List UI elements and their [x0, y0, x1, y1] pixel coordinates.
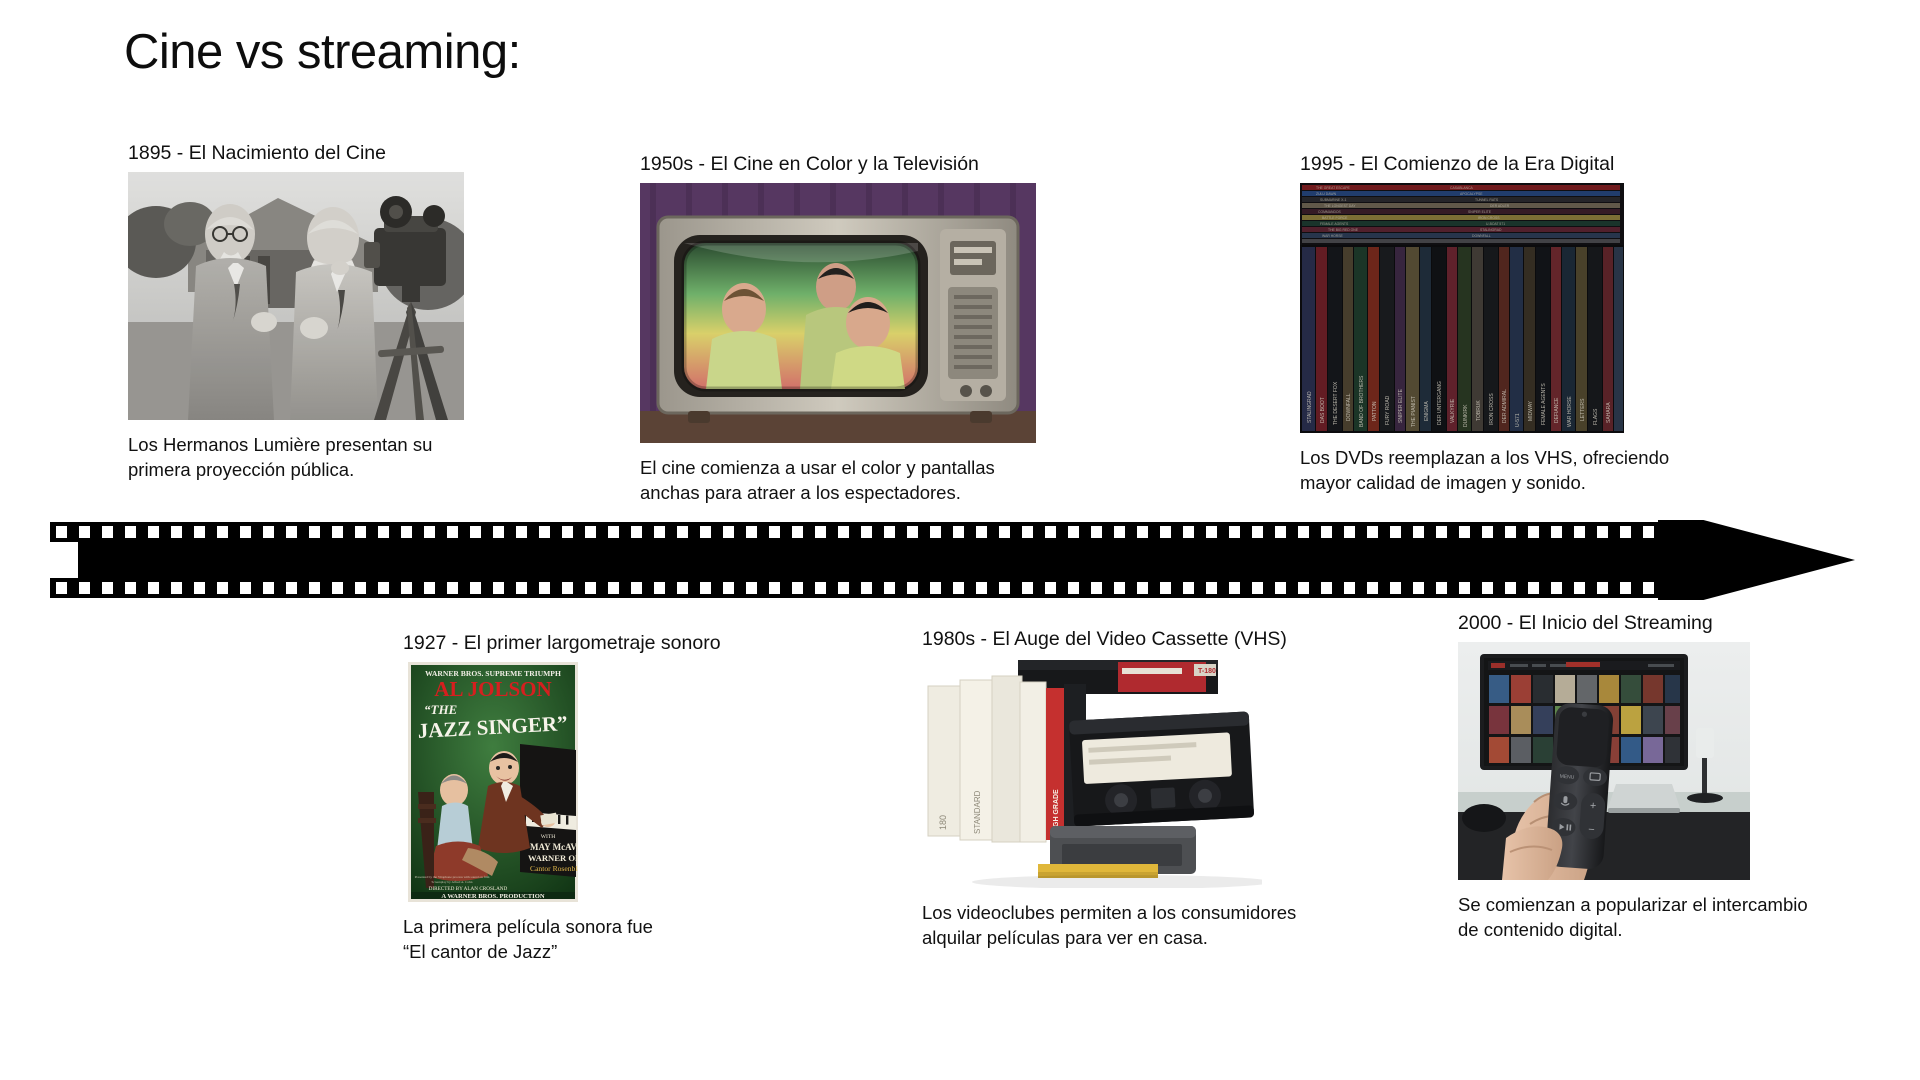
poster-director: DIRECTED BY ALAN CROSLAND	[429, 886, 508, 892]
timeline-entry-heading: 2000 - El Inicio del Streaming	[1458, 612, 1858, 635]
poster-star: AL JOLSON	[434, 677, 551, 701]
timeline-entry-2000: 2000 - El Inicio del Streaming	[1458, 612, 1858, 943]
svg-text:Cantor Rosenblatt: Cantor Rosenblatt	[530, 864, 578, 873]
svg-text:STANDARD: STANDARD	[973, 791, 982, 835]
vintage-color-television-photo	[640, 183, 1036, 443]
timeline-entry-heading: 1950s - El Cine en Color y la Televisión	[640, 153, 1040, 176]
svg-text:Presented by the Vitaphone pro: Presented by the Vitaphone process with …	[415, 875, 490, 879]
timeline-entry-1927: 1927 - El primer largometraje sonoro WAR…	[403, 632, 783, 965]
svg-text:+: +	[1589, 800, 1596, 812]
svg-text:MENU: MENU	[1559, 774, 1574, 781]
timeline-entry-heading: 1927 - El primer largometraje sonoro	[403, 632, 783, 655]
svg-text:−: −	[1588, 824, 1595, 836]
timeline-entry-heading: 1895 - El Nacimiento del Cine	[128, 142, 488, 165]
timeline-entry-caption: Se comienzan a popularizar el intercambi…	[1458, 893, 1858, 942]
streaming-remote-tv-photo: MENU + −	[1458, 642, 1750, 880]
poster-the: “THE	[424, 702, 458, 717]
timeline-entry-1980s: 1980s - El Auge del Video Cassette (VHS)…	[922, 628, 1322, 951]
timeline-entry-caption: Los videoclubes permiten a los consumido…	[922, 901, 1322, 950]
svg-text:Screenplay by Alfred A. Cohn: Screenplay by Alfred A. Cohn	[432, 880, 473, 884]
dvd-shelf-photo: THE GREAT ESCAPECASABLANCA ZULU DAWNAPOC…	[1300, 183, 1624, 433]
timeline-entry-caption: La primera película sonora fue “El canto…	[403, 915, 783, 964]
timeline-entry-caption: Los DVDs reemplazan a los VHS, ofreciend…	[1300, 446, 1700, 495]
jazz-singer-poster: WARNER BROS. SUPREME TRIUMPH AL JOLSON “…	[408, 662, 578, 902]
timeline-entry-heading: 1995 - El Comienzo de la Era Digital	[1300, 153, 1700, 176]
poster-footer: A WARNER BROS. PRODUCTION	[441, 893, 544, 900]
svg-text:WARNER OLAND: WARNER OLAND	[528, 853, 578, 863]
poster-with: WITH	[541, 834, 556, 840]
lumiere-brothers-camera-photo	[128, 172, 464, 420]
vhs-cassettes-photo: T-180 180 STANDARD HIGH GRADE	[922, 658, 1262, 888]
timeline-entry-1995: 1995 - El Comienzo de la Era Digital	[1300, 153, 1700, 496]
page-title: Cine vs streaming:	[124, 24, 521, 80]
svg-text:180: 180	[938, 815, 948, 830]
timeline-arrow-head	[1658, 520, 1855, 600]
timeline-entry-caption: Los Hermanos Lumière presentan su primer…	[128, 433, 488, 482]
svg-text:T-180: T-180	[1198, 668, 1216, 675]
timeline-entry-1950s: 1950s - El Cine en Color y la Televisión	[640, 153, 1040, 506]
timeline-filmstrip-arrow	[50, 520, 1890, 600]
timeline-entry-1895: 1895 - El Nacimiento del Cine	[128, 142, 488, 483]
timeline-entry-caption: El cine comienza a usar el color y panta…	[640, 456, 1040, 505]
timeline-entry-heading: 1980s - El Auge del Video Cassette (VHS)	[922, 628, 1322, 651]
svg-text:MAY McAVOY: MAY McAVOY	[530, 842, 578, 852]
